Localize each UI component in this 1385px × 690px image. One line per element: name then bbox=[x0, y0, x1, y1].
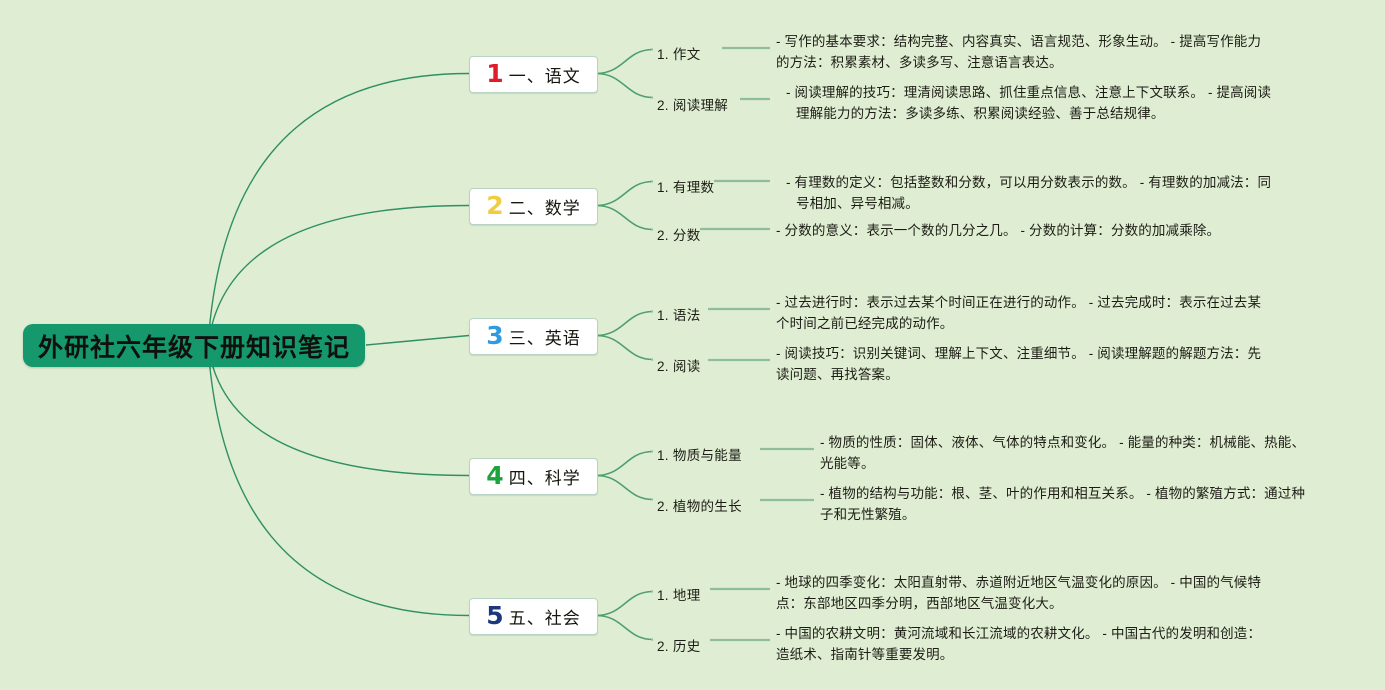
branch-number-1: 1 bbox=[486, 61, 503, 86]
detail-4-2: - 植物的结构与功能：根、茎、叶的作用和相互关系。 - 植物的繁殖方式：通过种 … bbox=[820, 483, 1350, 525]
branch-number-2: 2 bbox=[486, 193, 503, 218]
detail-1-2: - 阅读理解的技巧：理清阅读思路、抓住重点信息、注意上下文联系。 - 提高阅读 … bbox=[786, 82, 1314, 124]
subtopic-4-2[interactable]: 2. 植物的生长 bbox=[657, 495, 742, 515]
subtopic-4-1[interactable]: 1. 物质与能量 bbox=[657, 444, 742, 464]
detail-line: - 阅读技巧：识别关键词、理解上下文、注重细节。 - 阅读理解题的解题方法：先 bbox=[776, 343, 1296, 364]
detail-line: 理解能力的方法：多读多练、积累阅读经验、善于总结规律。 bbox=[786, 103, 1314, 124]
mindmap-canvas: 外研社六年级下册知识笔记 1 一、语文 1. 作文 2. 阅读理解 - 写作的基… bbox=[0, 0, 1385, 690]
subtopic-5-2[interactable]: 2. 历史 bbox=[657, 635, 701, 655]
branch-label-4: 四、科学 bbox=[509, 464, 581, 489]
connector-path bbox=[596, 336, 653, 360]
connector-path bbox=[208, 345, 469, 616]
branch-number-5: 5 bbox=[486, 603, 503, 628]
connector-path bbox=[596, 616, 653, 640]
branch-label-1: 一、语文 bbox=[509, 62, 581, 87]
detail-line: 的方法：积累素材、多读多写、注意语言表达。 bbox=[776, 52, 1296, 73]
detail-line: - 分数的意义：表示一个数的几分之几。 - 分数的计算：分数的加减乘除。 bbox=[776, 220, 1300, 241]
branch-label-5: 五、社会 bbox=[509, 604, 581, 629]
detail-5-2: - 中国的农耕文明：黄河流域和长江流域的农耕文化。 - 中国古代的发明和创造： … bbox=[776, 623, 1296, 665]
subtopic-3-1[interactable]: 1. 语法 bbox=[657, 304, 701, 324]
detail-line: 号相加、异号相减。 bbox=[786, 193, 1310, 214]
subtopic-2-1[interactable]: 1. 有理数 bbox=[657, 176, 714, 196]
subtopic-3-2[interactable]: 2. 阅读 bbox=[657, 355, 701, 375]
detail-line: 读问题、再找答案。 bbox=[776, 364, 1296, 385]
connector-path bbox=[596, 50, 653, 74]
detail-line: - 地球的四季变化：太阳直射带、赤道附近地区气温变化的原因。 - 中国的气候特 bbox=[776, 572, 1296, 593]
detail-line: - 中国的农耕文明：黄河流域和长江流域的农耕文化。 - 中国古代的发明和创造： bbox=[776, 623, 1296, 644]
detail-line: - 写作的基本要求：结构完整、内容真实、语言规范、形象生动。 - 提高写作能力 bbox=[776, 31, 1296, 52]
branch-node-4[interactable]: 4 四、科学 bbox=[469, 458, 598, 495]
detail-line: 点：东部地区四季分明，西部地区气温变化大。 bbox=[776, 593, 1296, 614]
branch-node-3[interactable]: 3 三、英语 bbox=[469, 318, 598, 355]
branch-label-2: 二、数学 bbox=[509, 194, 581, 219]
detail-line: 子和无性繁殖。 bbox=[820, 504, 1350, 525]
connector-path bbox=[596, 452, 653, 476]
detail-line: - 有理数的定义：包括整数和分数，可以用分数表示的数。 - 有理数的加减法：同 bbox=[786, 172, 1310, 193]
connector-path bbox=[596, 312, 653, 336]
detail-line: - 阅读理解的技巧：理清阅读思路、抓住重点信息、注意上下文联系。 - 提高阅读 bbox=[786, 82, 1314, 103]
branch-node-2[interactable]: 2 二、数学 bbox=[469, 188, 598, 225]
detail-2-2: - 分数的意义：表示一个数的几分之几。 - 分数的计算：分数的加减乘除。 bbox=[776, 220, 1300, 241]
detail-2-1: - 有理数的定义：包括整数和分数，可以用分数表示的数。 - 有理数的加减法：同 … bbox=[786, 172, 1310, 214]
detail-line: - 过去进行时：表示过去某个时间正在进行的动作。 - 过去完成时：表示在过去某 bbox=[776, 292, 1296, 313]
detail-line: 光能等。 bbox=[820, 453, 1350, 474]
detail-1-1: - 写作的基本要求：结构完整、内容真实、语言规范、形象生动。 - 提高写作能力 … bbox=[776, 31, 1296, 73]
subtopic-1-1[interactable]: 1. 作文 bbox=[657, 43, 701, 63]
detail-line: 造纸术、指南针等重要发明。 bbox=[776, 644, 1296, 665]
connector-path bbox=[366, 336, 469, 346]
root-node-label: 外研社六年级下册知识笔记 bbox=[38, 328, 350, 364]
detail-4-1: - 物质的性质：固体、液体、气体的特点和变化。 - 能量的种类：机械能、热能、 … bbox=[820, 432, 1350, 474]
detail-line: - 植物的结构与功能：根、茎、叶的作用和相互关系。 - 植物的繁殖方式：通过种 bbox=[820, 483, 1350, 504]
subtopic-2-2[interactable]: 2. 分数 bbox=[657, 224, 701, 244]
connector-path bbox=[208, 74, 469, 346]
branch-node-1[interactable]: 1 一、语文 bbox=[469, 56, 598, 93]
detail-5-1: - 地球的四季变化：太阳直射带、赤道附近地区气温变化的原因。 - 中国的气候特 … bbox=[776, 572, 1296, 614]
detail-3-1: - 过去进行时：表示过去某个时间正在进行的动作。 - 过去完成时：表示在过去某 … bbox=[776, 292, 1296, 334]
branch-number-4: 4 bbox=[486, 463, 503, 488]
root-node[interactable]: 外研社六年级下册知识笔记 bbox=[23, 324, 365, 367]
subtopic-1-2[interactable]: 2. 阅读理解 bbox=[657, 94, 728, 114]
connector-path bbox=[596, 74, 653, 98]
branch-node-5[interactable]: 5 五、社会 bbox=[469, 598, 598, 635]
subtopic-5-1[interactable]: 1. 地理 bbox=[657, 584, 701, 604]
detail-line: - 物质的性质：固体、液体、气体的特点和变化。 - 能量的种类：机械能、热能、 bbox=[820, 432, 1350, 453]
connector-path bbox=[596, 206, 653, 230]
branch-label-3: 三、英语 bbox=[509, 324, 581, 349]
branch-number-3: 3 bbox=[486, 323, 503, 348]
connector-path bbox=[596, 592, 653, 616]
detail-line: 个时间之前已经完成的动作。 bbox=[776, 313, 1296, 334]
detail-3-2: - 阅读技巧：识别关键词、理解上下文、注重细节。 - 阅读理解题的解题方法：先 … bbox=[776, 343, 1296, 385]
connector-path bbox=[596, 182, 653, 206]
connector-path bbox=[596, 476, 653, 500]
